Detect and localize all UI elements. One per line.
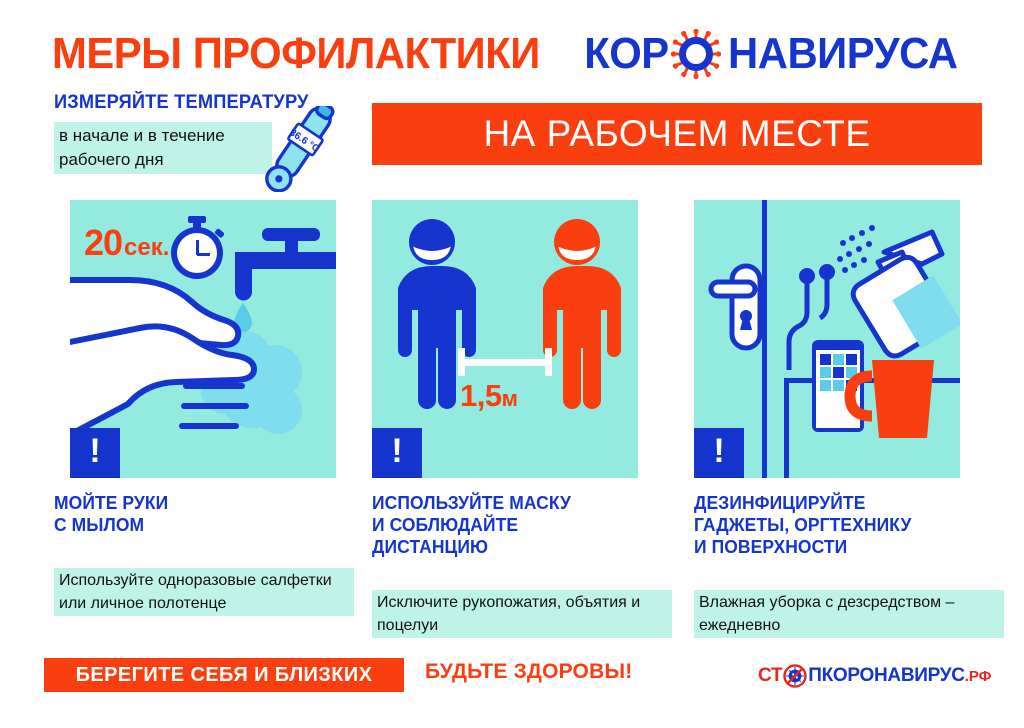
duration-number: 20 bbox=[84, 222, 122, 264]
door-handle-icon bbox=[711, 266, 760, 348]
stopwatch-icon bbox=[171, 216, 225, 279]
stopcoronavirus-logo[interactable]: СТ ПКОРОНАВИРУС .РФ bbox=[758, 663, 991, 689]
page-title: МЕРЫ ПРОФИЛАКТИКИ КОР bbox=[52, 28, 982, 80]
logo-domain: .РФ bbox=[965, 668, 992, 685]
logo-main: ПКОРОНАВИРУС bbox=[808, 665, 964, 687]
spray-dots-icon bbox=[837, 225, 875, 273]
title-blue-part: КОР bbox=[582, 29, 964, 79]
distance-value: 1,5 bbox=[460, 378, 502, 413]
workplace-banner: НА РАБОЧЕМ МЕСТЕ bbox=[372, 103, 982, 165]
caption-heading: ДЕЗИНФИЦИРУЙТЕ ГАДЖЕТЫ, ОРГТЕХНИКУ И ПОВ… bbox=[694, 492, 995, 558]
title-red-part: МЕРЫ ПРОФИЛАКТИКИ bbox=[52, 29, 540, 79]
caption-note: Влажная уборка с дезсредством – ежедневн… bbox=[694, 590, 1004, 638]
distance-label: 1,5м bbox=[460, 378, 517, 414]
footer-slogan-text: БЕРЕГИТЕ СЕБЯ И БЛИЗКИХ bbox=[76, 664, 373, 687]
title-blue-after: НАВИРУСА bbox=[729, 29, 958, 79]
caption-heading: МОЙТЕ РУКИ С МЫЛОМ bbox=[54, 492, 345, 536]
footer-slogan-bar: БЕРЕГИТЕ СЕБЯ И БЛИЗКИХ bbox=[44, 658, 404, 692]
caption-note-wrap: Используйте одноразовые салфетки или лич… bbox=[54, 568, 354, 616]
duration-label: 20 сек. bbox=[84, 222, 169, 264]
washing-hands-icon bbox=[70, 280, 254, 440]
spray-bottle-icon bbox=[849, 232, 960, 361]
panel-wash-hands: 20 сек. ! bbox=[70, 200, 336, 478]
attention-badge: ! bbox=[694, 428, 744, 478]
virus-o-icon bbox=[671, 29, 721, 79]
temperature-note: в начале и в течение рабочего дня bbox=[54, 122, 272, 174]
caption-note: Исключите рукопожатия, объятия и поцелуи bbox=[372, 590, 672, 638]
duration-unit: сек. bbox=[124, 234, 169, 262]
exclamation-icon: ! bbox=[391, 434, 402, 468]
caption-mask-distance: ИСПОЛЬЗУЙТЕ МАСКУ И СОБЛЮДАЙТЕ ДИСТАНЦИЮ… bbox=[372, 492, 672, 558]
caption-note-wrap: Влажная уборка с дезсредством – ежедневн… bbox=[694, 590, 1004, 638]
panel-mask-distance: 1,5м ! bbox=[372, 200, 638, 478]
thermometer-icon: 36.6 °C bbox=[244, 106, 354, 192]
caption-wash-hands: МОЙТЕ РУКИ С МЫЛОМ Используйте одноразов… bbox=[54, 492, 354, 536]
workplace-banner-text: НА РАБОЧЕМ МЕСТЕ bbox=[483, 113, 870, 155]
attention-badge: ! bbox=[372, 428, 422, 478]
person-orange-masked-icon bbox=[543, 219, 621, 409]
caption-note: Используйте одноразовые салфетки или лич… bbox=[54, 568, 354, 616]
caption-heading: ИСПОЛЬЗУЙТЕ МАСКУ И СОБЛЮДАЙТЕ ДИСТАНЦИЮ bbox=[372, 492, 663, 558]
distance-unit: м bbox=[502, 386, 518, 411]
logo-prefix: СТ bbox=[758, 665, 782, 687]
attention-badge: ! bbox=[70, 428, 120, 478]
caption-note-wrap: Исключите рукопожатия, объятия и поцелуи bbox=[372, 590, 672, 638]
faucet-icon bbox=[235, 228, 336, 301]
panel-disinfect: ! bbox=[694, 200, 960, 478]
poster-root: МЕРЫ ПРОФИЛАКТИКИ КОР bbox=[0, 0, 1024, 728]
exclamation-icon: ! bbox=[89, 434, 100, 468]
title-blue-before: КОР bbox=[584, 29, 668, 79]
footer-be-healthy: БУДЬТЕ ЗДОРОВЫ! bbox=[425, 660, 632, 684]
caption-disinfect: ДЕЗИНФИЦИРУЙТЕ ГАДЖЕТЫ, ОРГТЕХНИКУ И ПОВ… bbox=[694, 492, 1004, 558]
stop-virus-icon bbox=[783, 664, 807, 688]
exclamation-icon: ! bbox=[713, 434, 724, 468]
